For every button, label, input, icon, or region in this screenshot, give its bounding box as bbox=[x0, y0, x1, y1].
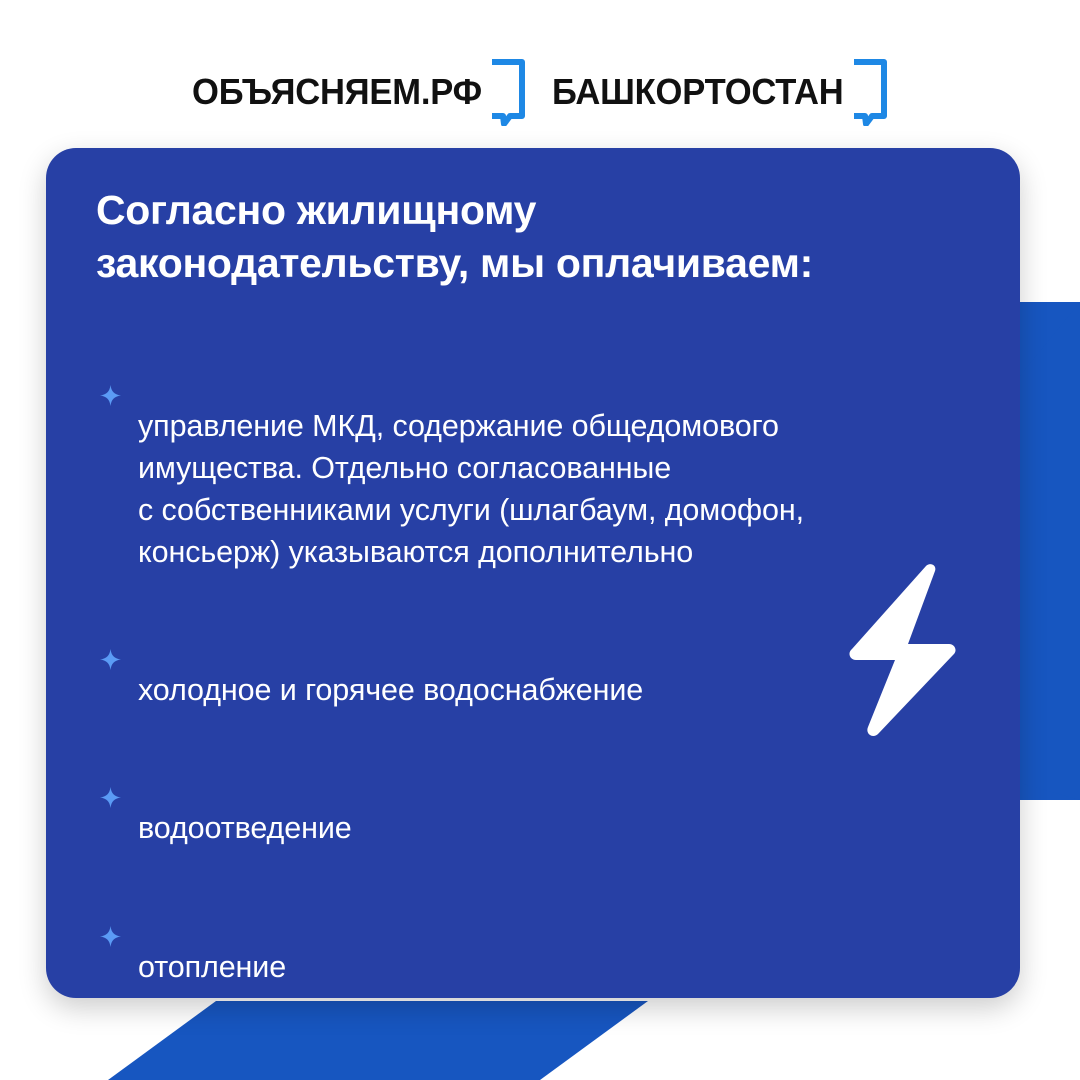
payment-items-list: управление МКД, содержание общедомового … bbox=[96, 321, 970, 998]
list-item-label: холодное и горячее водоснабжение bbox=[138, 673, 643, 707]
list-item-label: отопление bbox=[138, 950, 286, 984]
speech-bubble-bracket-region-svg bbox=[854, 58, 888, 126]
card-title: Согласно жилищному законодательству, мы … bbox=[96, 184, 956, 291]
logo-region-unit[interactable]: БАШКОРТОСТАН bbox=[552, 58, 888, 126]
sparkle-svg bbox=[100, 787, 121, 808]
sparkle-icon bbox=[100, 333, 121, 354]
info-card: Согласно жилищному законодательству, мы … bbox=[46, 148, 1020, 998]
logo-primary-text: ОБЪЯСНЯЕМ.РФ bbox=[192, 74, 486, 110]
card-content: Согласно жилищному законодательству, мы … bbox=[46, 148, 1020, 998]
sparkle-icon bbox=[100, 597, 121, 618]
list-item-label: водоотведение bbox=[138, 811, 352, 845]
speech-bubble-bracket-icon-region bbox=[854, 58, 888, 126]
logo-region-text: БАШКОРТОСТАН bbox=[552, 74, 847, 110]
brand-header: ОБЪЯСНЯЕМ.РФ БАШКОРТОСТАН bbox=[0, 52, 1080, 132]
speech-bubble-bracket-icon bbox=[492, 58, 526, 126]
sparkle-icon bbox=[100, 735, 121, 756]
sparkle-svg bbox=[100, 649, 121, 670]
right-angled-shape-bevel bbox=[1010, 302, 1080, 800]
list-item: управление МКД, содержание общедомового … bbox=[96, 321, 958, 573]
list-item: водоотведение bbox=[96, 723, 958, 849]
speech-bubble-bracket-svg bbox=[492, 58, 526, 126]
bottom-parallelogram-shape bbox=[108, 1001, 648, 1080]
list-item: отопление bbox=[96, 862, 958, 988]
sparkle-icon bbox=[100, 874, 121, 895]
list-item-label: управление МКД, содержание общедомового … bbox=[138, 409, 804, 569]
poster-canvas: ОБЪЯСНЯЕМ.РФ БАШКОРТОСТАН bbox=[0, 0, 1080, 1080]
sparkle-svg bbox=[100, 926, 121, 947]
list-item: холодное и горячее водоснабжение bbox=[96, 585, 958, 711]
logo-primary-unit[interactable]: ОБЪЯСНЯЕМ.РФ bbox=[192, 58, 526, 126]
sparkle-svg bbox=[100, 385, 121, 406]
logo-group: ОБЪЯСНЯЕМ.РФ БАШКОРТОСТАН bbox=[192, 58, 888, 126]
right-angled-shape bbox=[1010, 302, 1080, 800]
